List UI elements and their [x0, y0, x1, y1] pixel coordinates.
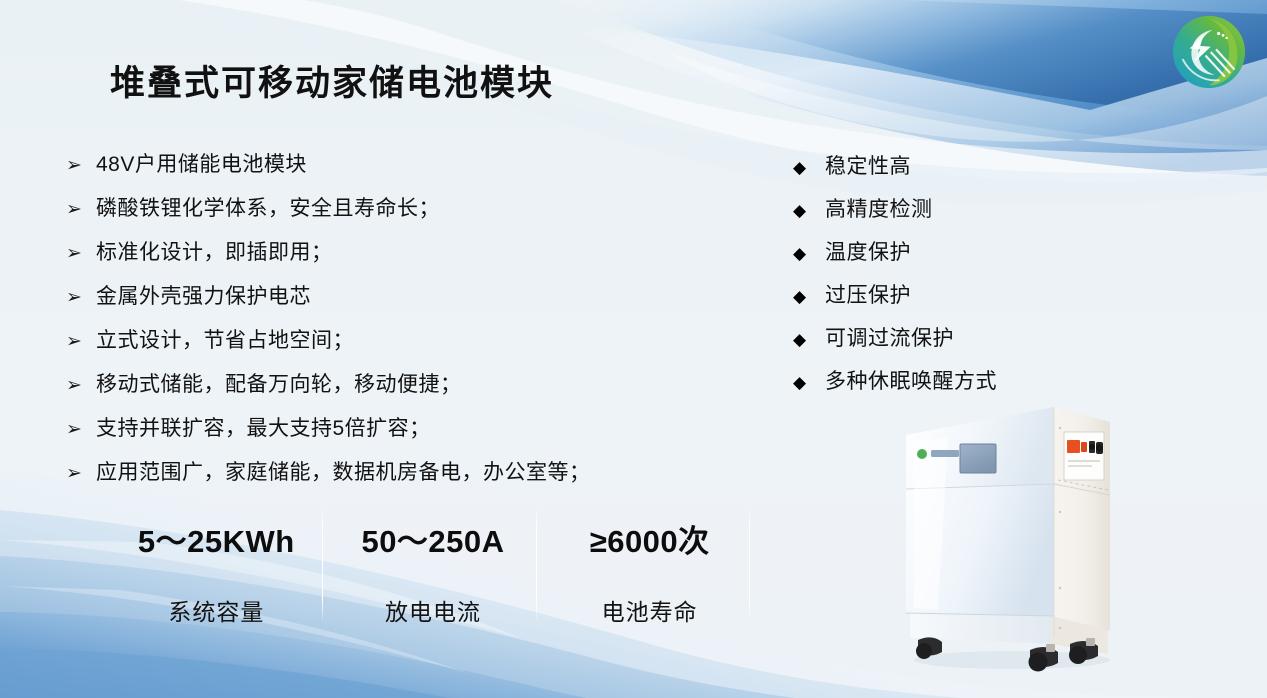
stat-label: 电池寿命: [602, 593, 698, 627]
arrow-bullet-icon: ➢: [66, 156, 96, 175]
stat-battery-life: ≥6000次 电池寿命: [541, 508, 758, 620]
product-image-battery-cabinet: [862, 392, 1162, 692]
arrow-bullet-icon: ➢: [66, 244, 96, 263]
list-item: ➢ 标准化设计，即插即用；: [66, 236, 706, 280]
list-item: ◆ 稳定性高: [793, 150, 1093, 193]
list-item: ◆ 高精度检测: [793, 193, 1093, 236]
list-item-label: 金属外壳强力保护电芯: [96, 280, 311, 310]
list-item: ➢ 金属外壳强力保护电芯: [66, 280, 706, 324]
list-item-label: 稳定性高: [825, 150, 911, 180]
arrow-bullet-icon: ➢: [66, 200, 96, 219]
diamond-bullet-icon: ◆: [793, 159, 825, 176]
arrow-bullet-icon: ➢: [66, 332, 96, 351]
list-item: ◆ 过压保护: [793, 279, 1093, 322]
right-feature-list: ◆ 稳定性高 ◆ 高精度检测 ◆ 温度保护 ◆ 过压保护 ◆ 可调过流保护 ◆ …: [793, 150, 1093, 408]
stat-value: 5〜25KWh: [138, 516, 295, 561]
list-item-label: 磷酸铁锂化学体系，安全且寿命长；: [96, 192, 440, 222]
arrow-bullet-icon: ➢: [66, 376, 96, 395]
list-item-label: 立式设计，节省占地空间；: [96, 324, 354, 354]
list-item: ➢ 支持并联扩容，最大支持5倍扩容；: [66, 412, 706, 456]
stat-divider: [536, 508, 537, 620]
list-item-label: 48V户用储能电池模块: [96, 148, 307, 178]
list-item-label: 应用范围广，家庭储能，数据机房备电，办公室等；: [96, 456, 591, 486]
list-item: ➢ 48V户用储能电池模块: [66, 148, 706, 192]
stat-value: ≥6000次: [590, 516, 710, 561]
stat-label: 放电电流: [385, 593, 481, 627]
left-feature-list: ➢ 48V户用储能电池模块 ➢ 磷酸铁锂化学体系，安全且寿命长； ➢ 标准化设计…: [66, 148, 706, 500]
page-title: 堆叠式可移动家储电池模块: [110, 55, 554, 106]
list-item: ➢ 磷酸铁锂化学体系，安全且寿命长；: [66, 192, 706, 236]
stat-divider: [322, 508, 323, 620]
list-item: ➢ 应用范围广，家庭储能，数据机房备电，办公室等；: [66, 456, 706, 500]
diamond-bullet-icon: ◆: [793, 374, 825, 391]
diamond-bullet-icon: ◆: [793, 288, 825, 305]
list-item-label: 可调过流保护: [825, 322, 954, 352]
arrow-bullet-icon: ➢: [66, 464, 96, 483]
list-item-label: 支持并联扩容，最大支持5倍扩容；: [96, 412, 431, 442]
list-item: ◆ 温度保护: [793, 236, 1093, 279]
arrow-bullet-icon: ➢: [66, 288, 96, 307]
stat-system-capacity: 5〜25KWh 系统容量: [108, 508, 325, 620]
list-item-label: 移动式储能，配备万向轮，移动便捷；: [96, 368, 462, 398]
list-item: ◆ 可调过流保护: [793, 322, 1093, 365]
slide: 堆叠式可移动家储电池模块 ➢ 48V户用储能电池模块 ➢ 磷酸铁锂化学体系，安全…: [0, 0, 1267, 698]
list-item: ➢ 立式设计，节省占地空间；: [66, 324, 706, 368]
diamond-bullet-icon: ◆: [793, 331, 825, 348]
list-item-label: 温度保护: [825, 236, 911, 266]
stat-discharge-current: 50〜250A 放电电流: [325, 508, 542, 620]
list-item-label: 高精度检测: [825, 193, 933, 223]
spec-stats-row: 5〜25KWh 系统容量 50〜250A 放电电流 ≥6000次 电池寿命: [108, 508, 758, 620]
leaf-energy-logo-icon: [1165, 8, 1253, 96]
stat-divider: [749, 508, 750, 620]
diamond-bullet-icon: ◆: [793, 245, 825, 262]
list-item-label: 标准化设计，即插即用；: [96, 236, 333, 266]
stat-label: 系统容量: [168, 593, 264, 627]
list-item: ➢ 移动式储能，配备万向轮，移动便捷；: [66, 368, 706, 412]
arrow-bullet-icon: ➢: [66, 420, 96, 439]
list-item-label: 过压保护: [825, 279, 911, 309]
diamond-bullet-icon: ◆: [793, 202, 825, 219]
stat-value: 50〜250A: [361, 516, 504, 561]
list-item-label: 多种休眠唤醒方式: [825, 365, 997, 395]
